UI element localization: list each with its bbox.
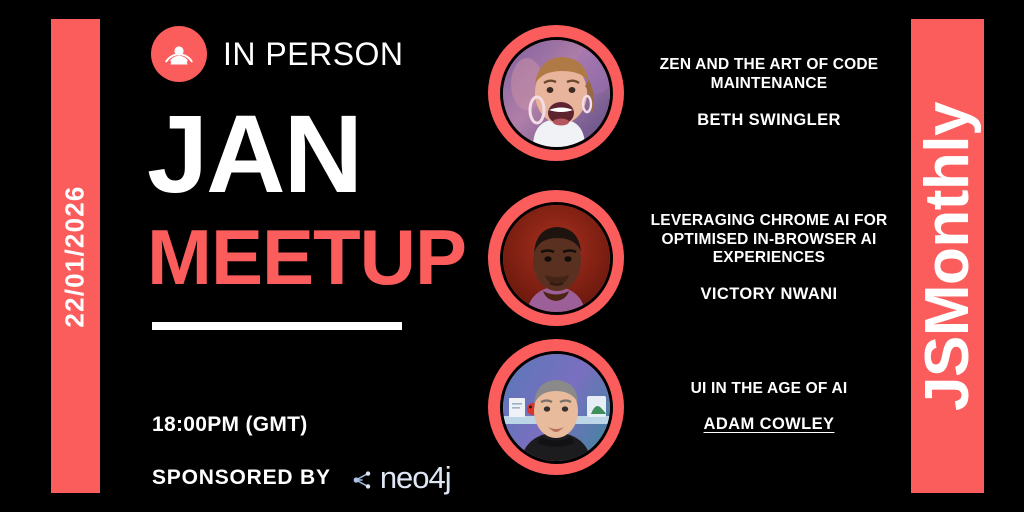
avatar-photo — [503, 40, 610, 147]
poster-left-column: IN PERSON JAN MEETUP 18:00PM (GMT) SPONS… — [151, 0, 451, 512]
title-divider-rule — [152, 322, 402, 330]
sponsored-by-label: SPONSORED BY — [152, 466, 331, 490]
page-title-event-type: MEETUP — [147, 222, 466, 294]
talk-title: UI IN THE AGE OF AI — [638, 380, 900, 399]
page-title-month: JAN — [147, 104, 361, 205]
speaker-text: LEVERAGING CHROME AI FOR OPTIMISED IN-BR… — [624, 212, 900, 305]
talk-title: ZEN AND THE ART OF CODE MAINTENANCE — [638, 56, 900, 94]
in-person-badge: IN PERSON — [151, 26, 404, 82]
avatar-beth-swingler — [488, 25, 624, 161]
event-time: 18:00PM (GMT) — [152, 413, 308, 437]
in-person-label: IN PERSON — [223, 36, 404, 73]
avatar-victory-nwani — [488, 190, 624, 326]
event-date-vertical: 22/01/2026 — [51, 19, 100, 493]
neo4j-graph-icon — [353, 467, 377, 493]
sponsor-section: SPONSORED BY neo4j — [152, 462, 451, 493]
neo4j-wordmark: neo4j — [380, 462, 451, 493]
speaker-text: UI IN THE AGE OF AI ADAM COWLEY — [624, 380, 900, 435]
brand-name-text: JSMonthly — [912, 102, 983, 411]
neo4j-logo: neo4j — [353, 462, 451, 493]
brand-vertical: JSMonthly — [911, 19, 984, 493]
speaker-name: BETH SWINGLER — [697, 111, 841, 130]
speaker-name: VICTORY NWANI — [701, 285, 838, 304]
speaker-item: ZEN AND THE ART OF CODE MAINTENANCE BETH… — [470, 17, 900, 169]
speaker-text: ZEN AND THE ART OF CODE MAINTENANCE BETH… — [624, 56, 900, 130]
speaker-list: ZEN AND THE ART OF CODE MAINTENANCE BETH… — [470, 0, 900, 512]
speaker-name: ADAM COWLEY — [704, 415, 835, 434]
talk-title: LEVERAGING CHROME AI FOR OPTIMISED IN-BR… — [638, 212, 900, 269]
avatar-photo — [503, 205, 610, 312]
event-poster: 22/01/2026 JSMonthly IN PERSON JAN MEETU… — [0, 0, 1024, 512]
avatar-adam-cowley — [488, 339, 624, 475]
speaker-item: UI IN THE AGE OF AI ADAM COWLEY — [470, 336, 900, 478]
speaker-item: LEVERAGING CHROME AI FOR OPTIMISED IN-BR… — [470, 185, 900, 331]
event-date-text: 22/01/2026 — [60, 185, 91, 327]
avatar-photo — [503, 354, 610, 461]
in-person-broadcast-icon — [151, 26, 207, 82]
